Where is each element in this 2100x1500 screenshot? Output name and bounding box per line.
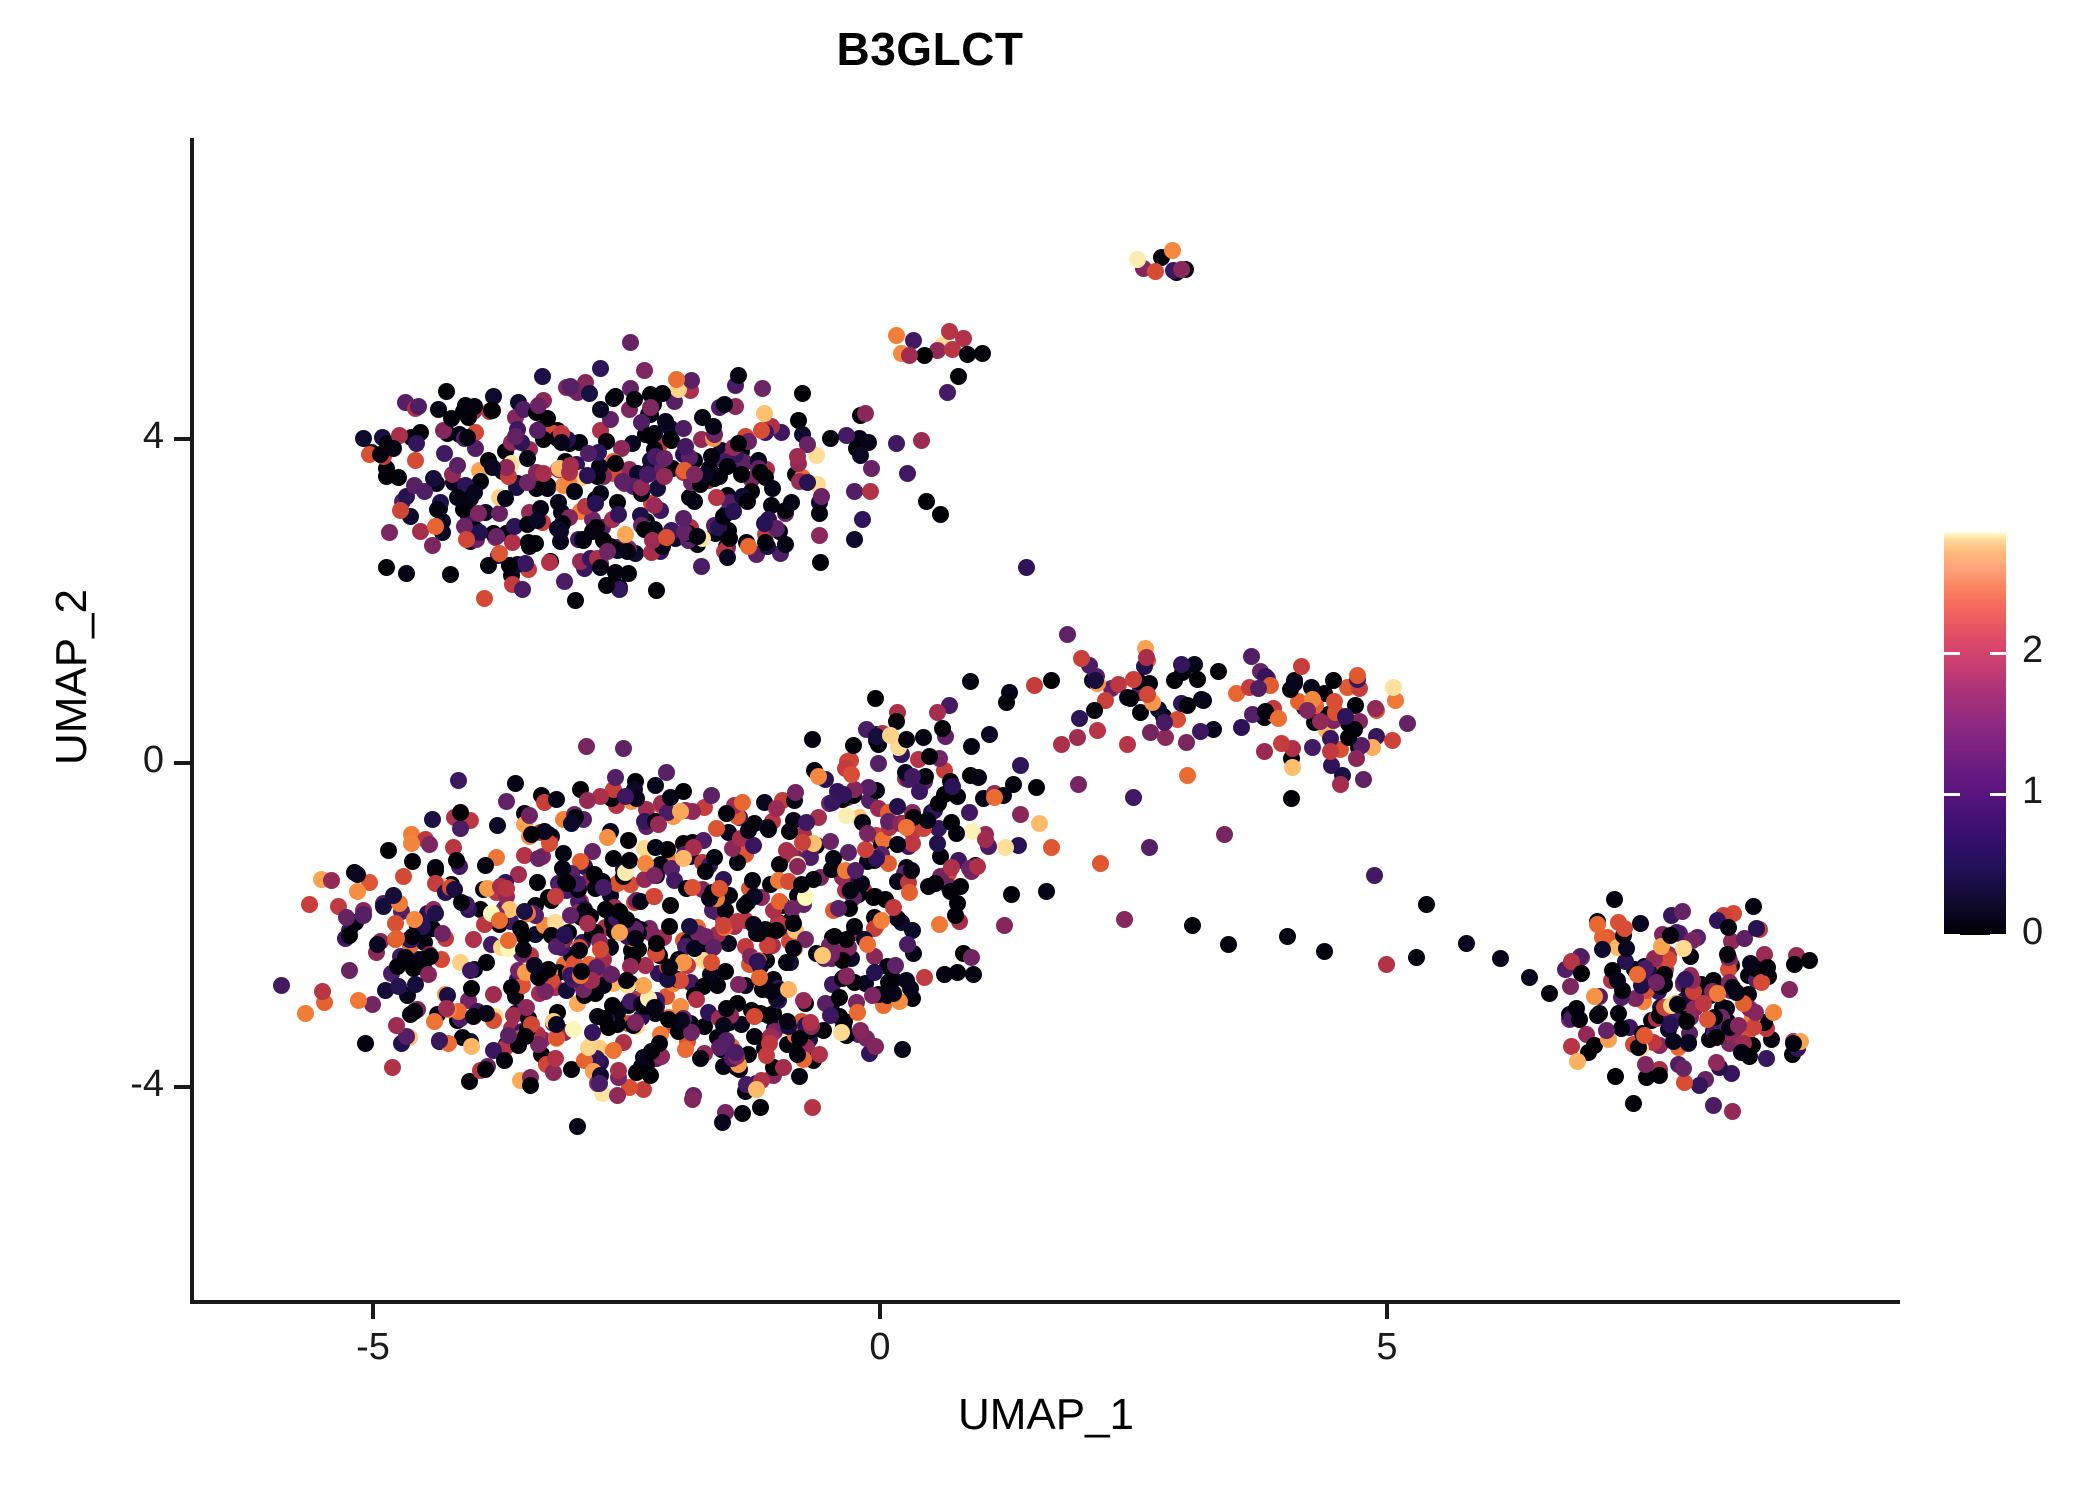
scatter-point [840,844,857,861]
scatter-point [388,930,405,947]
scatter-point [395,868,412,885]
scatter-point [703,787,720,804]
scatter-point [780,981,797,998]
scatter-point [981,726,998,743]
scatter-point [1189,671,1206,688]
scatter-point [873,912,890,929]
scatter-point [746,1008,763,1025]
scatter-point [424,537,441,554]
colorbar-tick-label: 0 [2022,911,2043,954]
scatter-point [521,807,538,824]
scatter-point [614,473,631,490]
scatter-point [916,347,933,364]
scatter-point [500,932,517,949]
scatter-point [785,915,802,932]
scatter-point [273,977,290,994]
scatter-point [804,1099,821,1116]
scatter-point [768,800,785,817]
scatter-point [929,704,946,721]
scatter-point [920,878,937,895]
scatter-point [1586,988,1603,1005]
scatter-point [715,1017,732,1034]
scatter-point [488,528,505,545]
scatter-point [1332,776,1349,793]
scatter-point [1325,672,1342,689]
scatter-point [520,534,537,551]
scatter-point [963,949,980,966]
scatter-point [355,430,372,447]
scatter-point [1299,702,1316,719]
y-axis-title: UMAP_2 [47,327,97,1027]
scatter-point [1625,1095,1642,1112]
scatter-point [916,969,933,986]
scatter-point [529,512,546,529]
scatter-point [567,592,584,609]
scatter-point [448,852,465,869]
scatter-point [385,440,402,457]
scatter-point [1733,1044,1750,1061]
scatter-point [341,962,358,979]
scatter-point [681,918,698,935]
scatter-point [1069,729,1086,746]
page-title: B3GLCT [0,22,1860,76]
scatter-point [756,405,773,422]
scatter-point [1273,735,1290,752]
scatter-point [548,1016,565,1033]
scatter-point [705,939,722,956]
scatter-point [859,825,876,842]
scatter-point [715,917,732,934]
scatter-point [491,912,508,929]
scatter-point [740,538,757,555]
scatter-point [939,384,956,401]
scatter-point [963,738,980,755]
scatter-point [932,506,949,523]
scatter-point [597,901,614,918]
scatter-point [867,690,884,707]
scatter-point [1122,690,1139,707]
colorbar-tick-mark [1990,934,2006,937]
scatter-point [466,484,483,501]
scatter-point [1758,1050,1775,1067]
chart-root: B3GLCT -404 -505 UMAP_1 UMAP_2 012 [0,0,2100,1500]
scatter-point [752,1099,769,1116]
y-tick-mark [174,761,190,765]
scatter-point [901,884,918,901]
scatter-point [605,850,622,867]
colorbar-tick-mark [1990,793,2006,796]
scatter-point [1071,710,1088,727]
scatter-point [646,867,663,884]
scatter-point [592,941,609,958]
scatter-point [1719,946,1736,963]
scatter-point [529,874,546,891]
scatter-point [661,918,678,935]
scatter-point [838,807,855,824]
scatter-point [969,858,986,875]
scatter-point [1286,675,1303,692]
scatter-point [1669,996,1686,1013]
colorbar-tick-mark [1944,793,1960,796]
scatter-point [1119,736,1136,753]
scatter-point [843,766,860,783]
scatter-point [1705,1097,1722,1114]
scatter-point [943,859,960,876]
x-axis-line [190,1300,1900,1304]
scatter-point [1220,936,1237,953]
scatter-point [389,958,406,975]
x-tick-mark [1385,1303,1389,1319]
scatter-point [297,1005,314,1022]
scatter-point [1695,995,1712,1012]
scatter-point [537,983,554,1000]
scatter-point [592,360,609,377]
scatter-point [477,857,494,874]
scatter-point [675,850,692,867]
scatter-point [1765,1004,1782,1021]
scatter-point [811,1046,828,1063]
scatter-point [929,835,946,852]
scatter-point [736,897,753,914]
scatter-point [421,836,438,853]
scatter-point [595,879,612,896]
scatter-point [1418,896,1435,913]
scatter-point [1178,734,1195,751]
scatter-point [453,894,470,911]
scatter-point [1569,1053,1586,1070]
scatter-point [1216,826,1233,843]
scatter-point [944,341,961,358]
scatter-point [596,1010,613,1027]
scatter-point [846,483,863,500]
scatter-point [882,727,899,744]
scatter-point [380,842,397,859]
scatter-point [1043,672,1060,689]
scatter-point [1129,251,1146,268]
scatter-point [961,804,978,821]
scatter-point [559,875,576,892]
scatter-point [622,334,639,351]
scatter-point [422,948,439,965]
scatter-point [734,794,751,811]
x-tick-label: 0 [810,1326,950,1369]
scatter-point [1651,1067,1668,1084]
scatter-point [857,405,874,422]
scatter-point [1629,966,1646,983]
scatter-point [650,816,667,833]
scatter-point [749,953,766,970]
scatter-point [813,488,830,505]
scatter-point [1728,984,1745,1001]
scatter-point [1730,1017,1747,1034]
scatter-point [745,916,762,933]
scatter-point [1028,779,1045,796]
scatter-point [618,972,635,989]
scatter-point [550,494,567,511]
scatter-point [578,738,595,755]
scatter-point [986,789,1003,806]
scatter-point [450,772,467,789]
scatter-point [556,926,573,943]
scatter-point [974,345,991,362]
scatter-point [789,1046,806,1063]
scatter-point [636,362,653,379]
scatter-point [478,954,495,971]
scatter-point [1279,928,1296,945]
scatter-point [566,483,583,500]
scatter-point [949,964,966,981]
scatter-point [1053,736,1070,753]
scatter-point [794,385,811,402]
scatter-point [1192,723,1209,740]
scatter-point [1348,750,1365,767]
scatter-point [478,1005,495,1022]
scatter-point [754,380,771,397]
scatter-point [1598,1022,1615,1039]
scatter-point [706,849,723,866]
scatter-point [515,941,532,958]
scatter-point [398,565,415,582]
scatter-point [424,811,441,828]
scatter-point [849,1004,866,1021]
scatter-point [484,459,501,476]
scatter-point [610,506,627,523]
scatter-point [996,917,1013,934]
scatter-point [646,497,663,514]
scatter-point [1458,935,1475,952]
scatter-point [1043,839,1060,856]
scatter-point [662,897,679,914]
scatter-point [683,372,700,389]
scatter-point [1610,1005,1627,1022]
scatter-point [854,511,871,528]
scatter-point [889,836,906,853]
scatter-point [1591,1005,1608,1022]
scatter-point [323,872,340,889]
scatter-point [798,814,815,831]
scatter-point [579,915,596,932]
scatter-point [784,900,801,917]
scatter-point [1256,743,1273,760]
scatter-point [1759,959,1776,976]
scatter-point [727,1044,744,1061]
scatter-point [745,837,762,854]
scatter-point [547,1050,564,1067]
colorbar-tick-mark [1944,652,1960,655]
scatter-point [355,906,372,923]
scatter-point [931,916,948,933]
scatter-point [571,942,588,959]
scatter-point [789,448,806,465]
colorbar-gradient [1944,533,2006,935]
scatter-point [831,989,848,1006]
y-tick-mark [174,437,190,441]
scatter-point [1304,739,1321,756]
scatter-point [716,396,733,413]
scatter-point [584,1024,601,1041]
scatter-point [516,903,533,920]
scatter-point [301,896,318,913]
scatter-point [599,543,616,560]
scatter-point [693,558,710,575]
scatter-point [950,368,967,385]
scatter-point [449,489,466,506]
scatter-point [662,789,679,806]
scatter-point [1141,839,1158,856]
scatter-point [846,918,863,935]
scatter-point [1059,626,1076,643]
scatter-point [1070,776,1087,793]
scatter-point [867,1038,884,1055]
scatter-point [646,888,663,905]
scatter-point [1326,693,1343,710]
scatter-point [787,784,804,801]
scatter-point [789,858,806,875]
scatter-point [1038,883,1055,900]
scatter-point [760,1007,777,1024]
scatter-point [530,850,547,867]
scatter-point [581,385,598,402]
scatter-point [793,876,810,893]
scatter-point [442,566,459,583]
scatter-point [496,1052,513,1069]
scatter-point [830,900,847,917]
scatter-point [410,398,427,415]
scatter-point [739,493,756,510]
scatter-point [1674,903,1691,920]
scatter-point [885,985,902,1002]
y-axis-line [190,138,194,1304]
scatter-point [452,804,469,821]
scatter-point [845,737,862,754]
scatter-point [714,1114,731,1131]
scatter-point [459,429,476,446]
scatter-point [534,368,551,385]
scatter-point [476,590,493,607]
colorbar-legend: 012 [1944,533,2094,938]
scatter-point [438,383,455,400]
scatter-point [485,986,502,1003]
scatter-point [899,465,916,482]
scatter-point [686,466,703,483]
scatter-point [833,1024,850,1041]
scatter-point [489,817,506,834]
scatter-point [860,434,877,451]
scatter-point [427,905,444,922]
scatter-point [708,489,725,506]
scatter-point [369,936,386,953]
scatter-point [656,468,673,485]
scatter-point [658,764,675,781]
scatter-point [500,1027,517,1044]
scatter-point [824,794,841,811]
scatter-point [822,430,839,447]
scatter-point [1283,790,1300,807]
scatter-point [1632,915,1649,932]
scatter-point [866,964,883,981]
scatter-point [1594,941,1611,958]
scatter-point [591,1075,608,1092]
scatter-point [443,410,460,427]
scatter-point [349,883,366,900]
scatter-point [1089,722,1106,739]
scatter-point [675,510,692,527]
scatter-point [518,999,535,1016]
scatter-point [1589,916,1606,933]
scatter-point [870,755,887,772]
scatter-point [1012,806,1029,823]
scatter-point [438,1000,455,1017]
scatter-point [692,1050,709,1067]
scatter-point [617,526,634,543]
x-tick-label: 5 [1317,1326,1457,1369]
scatter-point [898,972,915,989]
scatter-point [1571,1011,1588,1028]
scatter-point [791,1068,808,1085]
scatter-point [898,731,915,748]
scatter-point [530,397,547,414]
scatter-point [470,505,487,522]
scatter-point [1116,911,1133,928]
scatter-point [1125,789,1142,806]
scatter-point [718,1000,735,1017]
scatter-point [703,954,720,971]
scatter-point [607,455,624,472]
scatter-point [1173,656,1190,673]
scatter-point [857,841,874,858]
scatter-point [658,529,675,546]
scatter-point [777,536,794,553]
scatter-point [381,524,398,541]
scatter-point [1092,855,1109,872]
scatter-point [615,740,632,757]
scatter-point [497,490,514,507]
scatter-point [901,347,918,364]
scatter-point [378,559,395,576]
scatter-point [465,931,482,948]
scatter-point [406,1003,423,1020]
scatter-point [504,534,521,551]
scatter-point [760,821,777,838]
scatter-point [1609,972,1626,989]
scatter-point [404,928,421,945]
scatter-point [1691,1077,1708,1094]
x-tick-label: -5 [303,1326,443,1369]
scatter-point [314,983,331,1000]
scatter-point [529,422,546,439]
scatter-point [898,819,915,836]
scatter-point [744,872,761,889]
scatter-point [672,803,689,820]
scatter-point [466,398,483,415]
scatter-point [811,527,828,544]
scatter-point [721,530,738,547]
scatter-point [1316,943,1333,960]
scatter-point [1210,663,1227,680]
scatter-point [1179,767,1196,784]
scatter-point [934,720,951,737]
scatter-point [1012,757,1029,774]
scatter-point [730,435,747,452]
scatter-point [862,483,879,500]
scatter-point [921,748,938,765]
scatter-point [407,976,424,993]
scatter-point [403,835,420,852]
scatter-point [660,1011,677,1028]
scatter-point [719,549,736,566]
scatter-point [778,842,795,859]
scatter-point [603,966,620,983]
